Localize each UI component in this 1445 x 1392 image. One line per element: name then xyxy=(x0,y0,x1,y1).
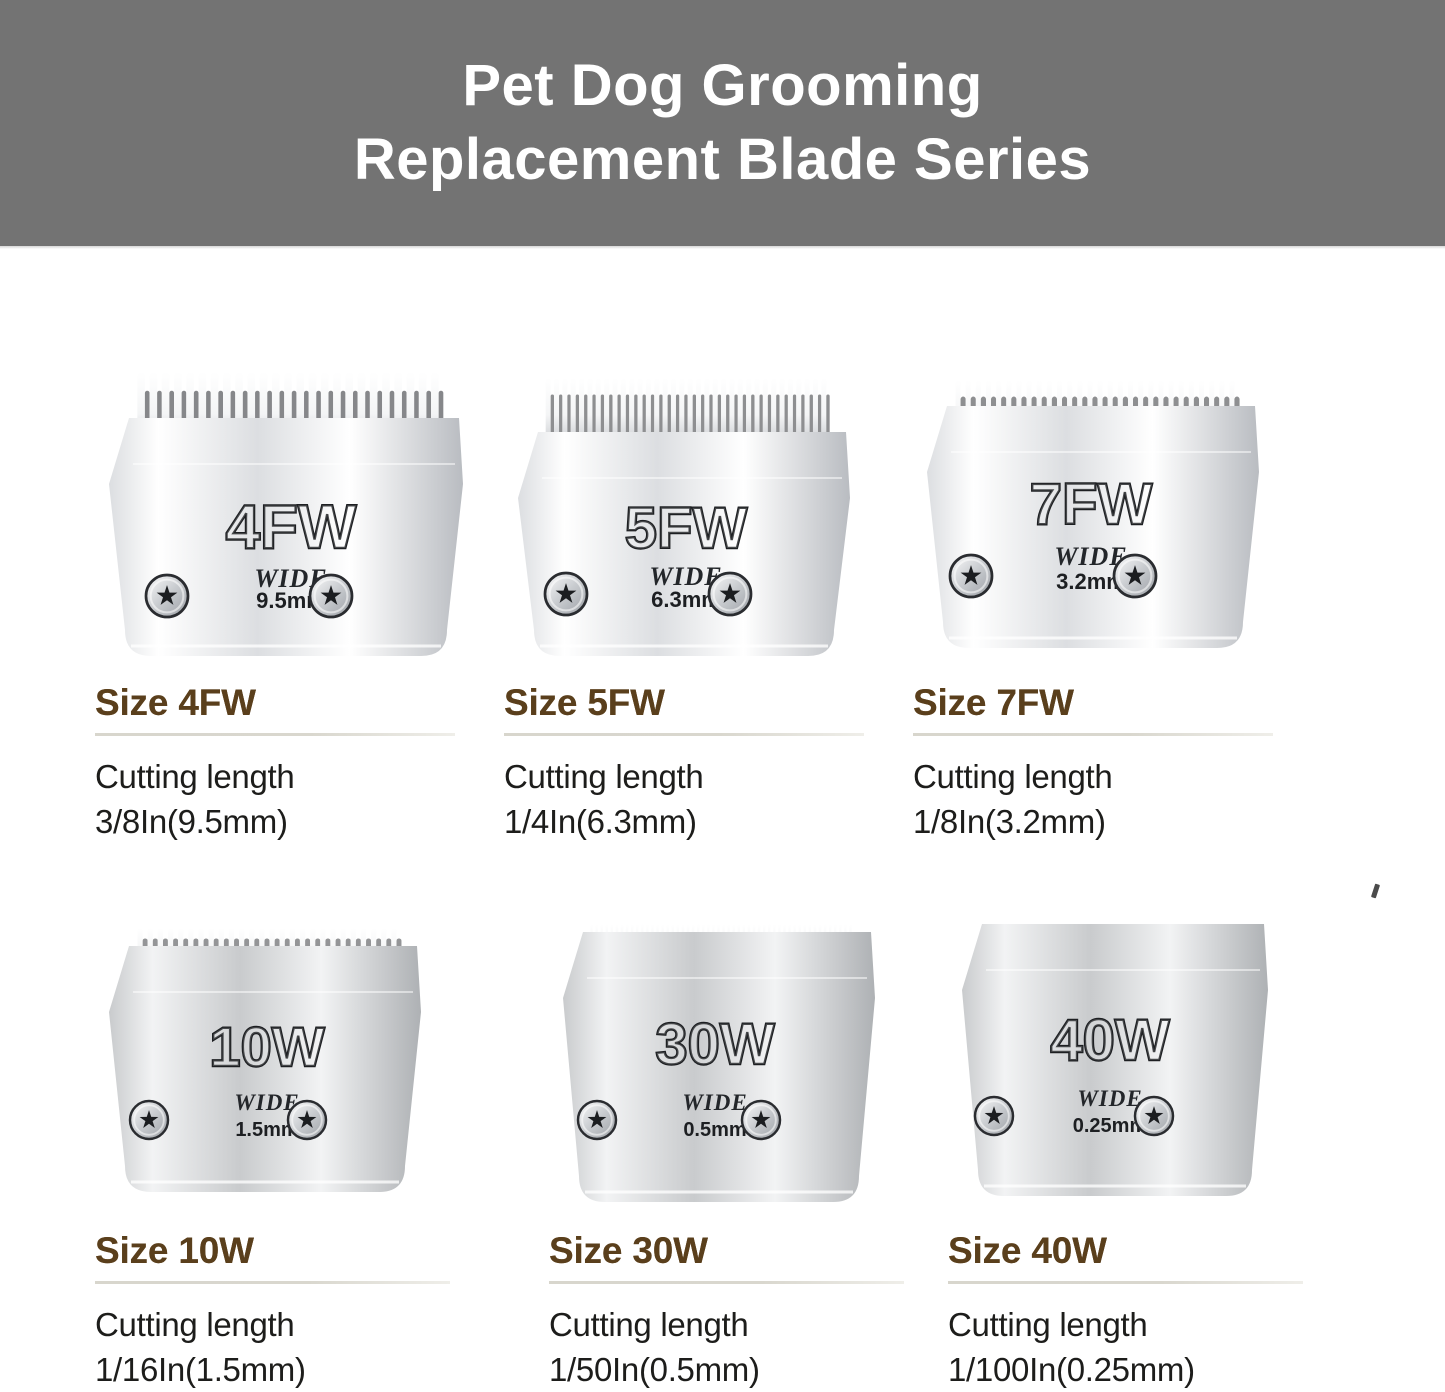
blade-screw-right xyxy=(1114,555,1156,597)
blade-screw-right xyxy=(742,1101,780,1139)
svg-text:4FW: 4FW xyxy=(226,493,357,562)
cutting-length-label: Cutting length xyxy=(913,754,1322,799)
product-caption-30w: Size 30W Cutting length 1/50In(0.5mm) xyxy=(549,1214,948,1392)
product-caption-7fw: Size 7FW Cutting length 1/8In(3.2mm) xyxy=(913,666,1322,844)
blade-image-4fw: 4FW 4FW WIDE 9.5mm xyxy=(95,246,504,666)
product-grid: 4FW 4FW WIDE 9.5mm Size 4FW Cutting leng… xyxy=(0,246,1445,1356)
blade-screw-left xyxy=(975,1097,1013,1135)
blade-screw-left xyxy=(950,555,992,597)
product-card-10w[interactable]: 10W 10W WIDE 1.5mm Size 10W Cutting leng… xyxy=(95,854,494,1356)
blade-screw-left xyxy=(146,575,188,617)
cutting-length-label: Cutting length xyxy=(948,1302,1347,1347)
caption-divider xyxy=(504,733,864,736)
caption-divider xyxy=(913,733,1273,736)
product-card-5fw[interactable]: 5FW 5FW WIDE 6.3mm Size 5FW Cutting leng… xyxy=(504,246,913,854)
product-caption-4fw: Size 4FW Cutting length 3/8In(9.5mm) xyxy=(95,666,504,844)
page-title-line-1: Pet Dog Grooming xyxy=(462,49,982,123)
cutting-length-value: 1/100In(0.25mm) xyxy=(948,1347,1347,1392)
caption-divider xyxy=(549,1281,904,1284)
blade-wide-label: WIDE xyxy=(682,1090,747,1115)
blade-image-30w: 30W 30W WIDE 0.5mm xyxy=(549,854,948,1214)
product-size-title: Size 7FW xyxy=(913,682,1322,724)
caption-divider xyxy=(948,1281,1303,1284)
product-size-title: Size 4FW xyxy=(95,682,504,724)
blade-wide-label: WIDE xyxy=(1077,1086,1142,1111)
blade-mm-label: 0.5mm xyxy=(683,1119,746,1141)
cutting-length-value: 1/4In(6.3mm) xyxy=(504,799,913,844)
blade-screw-left xyxy=(578,1101,616,1139)
page-header-banner: Pet Dog Grooming Replacement Blade Serie… xyxy=(0,0,1445,246)
blade-screw-left xyxy=(130,1101,168,1139)
svg-text:7FW: 7FW xyxy=(1030,472,1153,537)
page-title-line-2: Replacement Blade Series xyxy=(354,123,1091,197)
blade-image-40w: 40W 40W WIDE 0.25mm xyxy=(948,854,1347,1214)
product-card-30w[interactable]: 30W 30W WIDE 0.5mm Size 30W Cutting leng… xyxy=(549,854,948,1356)
caption-divider xyxy=(95,733,455,736)
svg-text:10W: 10W xyxy=(209,1015,324,1078)
product-card-40w[interactable]: 40W 40W WIDE 0.25mm Size 40W Cutting len… xyxy=(948,854,1347,1356)
blade-screw-left xyxy=(545,573,587,615)
svg-text:5FW: 5FW xyxy=(625,496,748,561)
product-card-7fw[interactable]: 7FW 7FW WIDE 3.2mm Size 7FW Cutting leng… xyxy=(913,246,1322,854)
cutting-length-label: Cutting length xyxy=(504,754,913,799)
svg-text:40W: 40W xyxy=(1050,1008,1170,1073)
product-size-title: Size 30W xyxy=(549,1230,948,1272)
blade-screw-right xyxy=(288,1101,326,1139)
blade-illustration: 30W 30W WIDE 0.5mm xyxy=(549,914,889,1202)
blade-illustration: 4FW 4FW WIDE 9.5mm xyxy=(95,356,477,656)
blade-image-7fw: 7FW 7FW WIDE 3.2mm xyxy=(913,246,1322,666)
product-row-top: 4FW 4FW WIDE 9.5mm Size 4FW Cutting leng… xyxy=(0,246,1445,854)
product-size-title: Size 10W xyxy=(95,1230,494,1272)
cutting-length-value: 1/16In(1.5mm) xyxy=(95,1347,494,1392)
blade-image-5fw: 5FW 5FW WIDE 6.3mm xyxy=(504,246,913,666)
cutting-length-value: 1/50In(0.5mm) xyxy=(549,1347,948,1392)
cutting-length-label: Cutting length xyxy=(549,1302,948,1347)
cutting-length-value: 3/8In(9.5mm) xyxy=(95,799,504,844)
caption-divider xyxy=(95,1281,450,1284)
product-caption-10w: Size 10W Cutting length 1/16In(1.5mm) xyxy=(95,1214,494,1392)
cutting-length-label: Cutting length xyxy=(95,1302,494,1347)
cutting-length-value: 1/8In(3.2mm) xyxy=(913,799,1322,844)
blade-screw-right xyxy=(1135,1097,1173,1135)
blade-illustration: 10W 10W WIDE 1.5mm xyxy=(95,914,435,1192)
blade-image-10w: 10W 10W WIDE 1.5mm xyxy=(95,854,494,1214)
svg-text:30W: 30W xyxy=(655,1012,775,1077)
product-caption-40w: Size 40W Cutting length 1/100In(0.25mm) xyxy=(948,1214,1347,1392)
product-card-4fw[interactable]: 4FW 4FW WIDE 9.5mm Size 4FW Cutting leng… xyxy=(95,246,504,854)
blade-illustration: 40W 40W WIDE 0.25mm xyxy=(948,914,1282,1196)
cutting-length-label: Cutting length xyxy=(95,754,504,799)
blade-illustration: 7FW 7FW WIDE 3.2mm xyxy=(913,356,1273,648)
product-caption-5fw: Size 5FW Cutting length 1/4In(6.3mm) xyxy=(504,666,913,844)
blade-illustration: 5FW 5FW WIDE 6.3mm xyxy=(504,356,864,656)
product-row-bottom: 10W 10W WIDE 1.5mm Size 10W Cutting leng… xyxy=(0,854,1445,1356)
product-size-title: Size 5FW xyxy=(504,682,913,724)
blade-screw-right xyxy=(310,575,352,617)
blade-screw-right xyxy=(709,573,751,615)
product-size-title: Size 40W xyxy=(948,1230,1347,1272)
